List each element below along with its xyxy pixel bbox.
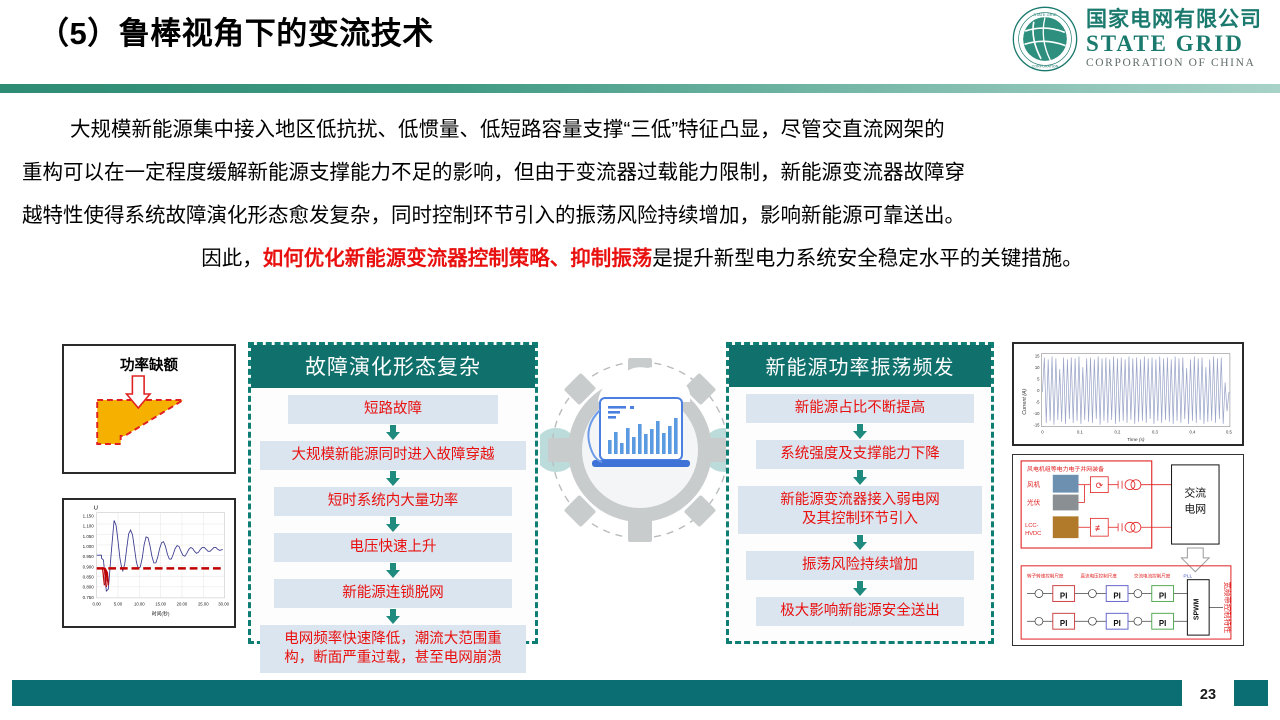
svg-text:0: 0: [1041, 429, 1044, 434]
svg-text:0.00: 0.00: [93, 602, 102, 607]
down-arrow-icon: [384, 471, 402, 486]
page-number: 23: [1192, 687, 1224, 703]
conclusion-highlight: 如何优化新能源变流器控制策略、抑制振荡: [263, 247, 653, 270]
svg-text:10.00: 10.00: [134, 602, 145, 607]
down-arrow-icon: [851, 424, 869, 439]
svg-text:0.5: 0.5: [1226, 429, 1233, 434]
flow-step: 新能源变流器接入弱电网 及其控制环节引入: [738, 486, 982, 534]
state-grid-logo: STATE GRID CORPORATION 国家电网有限公司 STATE GR…: [1012, 6, 1262, 72]
header-divider: [0, 84, 1280, 93]
body-line-1-text: 大规模新能源集中接入地区低抗扰、低惯量、低短路容量支撑“三低”特征凸显，尽管交直…: [70, 118, 945, 141]
gear-cloud-laptop-icon: [540, 350, 740, 550]
flow-step: 短路故障: [288, 395, 498, 424]
conclusion-prefix: 因此，: [201, 247, 263, 270]
svg-text:STATE GRID: STATE GRID: [1033, 12, 1056, 17]
svg-text:-5: -5: [1036, 400, 1040, 405]
fault-evolution-flow: 短路故障 大规模新能源同时进入故障穿越 短时系统内大量功率 电压快速上升 新能源…: [251, 388, 535, 677]
power-deficit-title: 功率缺额: [64, 354, 234, 375]
side-label: 宽频带控制特性: [1223, 581, 1233, 633]
svg-text:PI: PI: [1060, 619, 1067, 628]
svg-text:0.3: 0.3: [1152, 429, 1159, 434]
flow-step: 新能源连锁脱网: [274, 579, 512, 608]
svg-text:≢: ≢: [1095, 523, 1104, 533]
down-arrow-icon: [851, 470, 869, 485]
content-area: 功率缺额 U 1.1501.100 1.0501.000 0.9500.900 …: [0, 330, 1280, 660]
logo-cn-name: 国家电网有限公司: [1086, 9, 1262, 30]
group-title: 风电机组等电力电子并网装备: [1027, 465, 1104, 473]
current-waveform-chart: Current (A) 15105 0-5-10 -15 00.10.2 0.3…: [1014, 344, 1242, 444]
svg-text:PI: PI: [1113, 619, 1120, 628]
svg-text:1.100: 1.100: [83, 524, 95, 529]
logo-en-name: STATE GRID: [1086, 32, 1262, 55]
logo-en-subtitle: CORPORATION OF CHINA: [1086, 58, 1262, 70]
svg-text:⟳: ⟳: [1096, 481, 1104, 491]
source-label: LCC-: [1025, 523, 1038, 529]
current-waveform-card: Current (A) 15105 0-5-10 -15 00.10.2 0.3…: [1012, 342, 1244, 446]
svg-text:0.2: 0.2: [1114, 429, 1121, 434]
voltage-oscillation-card: U 1.1501.100 1.0501.000 0.9500.900 0.850…: [62, 498, 236, 628]
flow-step: 电压快速上升: [274, 533, 512, 562]
svg-text:CORPORATION: CORPORATION: [1032, 64, 1059, 68]
down-arrow-icon: [384, 609, 402, 624]
down-arrow-icon: [384, 425, 402, 440]
svg-text:PI: PI: [1159, 591, 1166, 600]
svg-text:5.00: 5.00: [114, 602, 123, 607]
svg-text:5: 5: [1037, 377, 1040, 382]
voltage-oscillation-chart: U 1.1501.100 1.0501.000 0.9500.900 0.850…: [64, 500, 234, 626]
converter-block-diagram: 风电机组等电力电子并网装备 风机 光伏 LCC- HVDC ⟳≢: [1013, 455, 1243, 645]
down-arrow-icon: [851, 535, 869, 550]
flow-step: 系统强度及支撑能力下降: [756, 440, 964, 469]
body-line-2: 重构可以在一定程度缓解新能源支撑能力不足的影响，但由于变流器过载能力限制，新能源…: [22, 151, 1262, 194]
flow-step: 振荡风险持续增加: [746, 551, 974, 580]
converter-block-diagram-card: 风电机组等电力电子并网装备 风机 光伏 LCC- HVDC ⟳≢: [1012, 454, 1244, 646]
fault-evolution-title: 故障演化形态复杂: [251, 345, 535, 388]
svg-text:PI: PI: [1159, 619, 1166, 628]
svg-text:10: 10: [1035, 365, 1040, 370]
power-deficit-card: 功率缺额: [62, 344, 236, 474]
down-arrow-icon: [384, 517, 402, 532]
fault-evolution-panel: 故障演化形态复杂 短路故障 大规模新能源同时进入故障穿越 短时系统内大量功率 电…: [248, 342, 538, 644]
pi-block-label: PIPI PIPI PIPI: [1060, 591, 1166, 628]
flow-step: 大规模新能源同时进入故障穿越: [260, 441, 526, 470]
svg-text:25.00: 25.00: [198, 602, 209, 607]
svg-text:0.1: 0.1: [1077, 429, 1084, 434]
flow-step: 电网频率快速降低，潮流大范围重 构，断面严重过载，甚至电网崩溃: [260, 625, 526, 673]
svg-text:30.00: 30.00: [218, 602, 229, 607]
svg-text:0.4: 0.4: [1189, 429, 1196, 434]
control-scale-label: 直流电压控制尺度: [1081, 573, 1118, 580]
page-title: （5）鲁棒视角下的变流技术: [38, 8, 434, 53]
body-line-3: 越特性使得系统故障演化形态愈发复杂，同时控制环节引入的振荡风险持续增加，影响新能…: [22, 194, 1262, 237]
current-xlabel: Time (s): [1127, 437, 1145, 443]
svg-text:PI: PI: [1060, 591, 1067, 600]
svg-text:-10: -10: [1033, 411, 1040, 416]
control-scale-label: 转子转速控制尺度: [1027, 573, 1064, 580]
svg-text:电网: 电网: [1184, 502, 1206, 515]
down-arrow-icon: [384, 563, 402, 578]
wave-xlabel: 时间(秒): [152, 610, 170, 617]
svg-text:15: 15: [1035, 353, 1040, 358]
conclusion-suffix: 是提升新型电力系统安全稳定水平的关键措施。: [652, 247, 1083, 270]
pll-label: PLL: [1183, 574, 1192, 580]
svg-text:HVDC: HVDC: [1025, 531, 1041, 537]
oscillation-flow: 新能源占比不断提高 系统强度及支撑能力下降 新能源变流器接入弱电网 及其控制环节…: [729, 387, 991, 630]
wave-ylabel: U: [94, 506, 98, 512]
svg-text:1.000: 1.000: [83, 544, 95, 549]
footer-bar: [12, 680, 1268, 706]
down-arrow-icon: [851, 581, 869, 596]
oscillation-title: 新能源功率振荡频发: [729, 345, 991, 387]
grid-label: 交流: [1184, 486, 1206, 500]
svg-text:0.950: 0.950: [83, 554, 95, 559]
source-label: 风机: [1027, 480, 1041, 489]
control-scale-label: 交流电流控制尺度: [1134, 573, 1171, 580]
flow-step: 短时系统内大量功率: [274, 487, 512, 516]
svg-text:1.050: 1.050: [83, 534, 95, 539]
svg-text:20.00: 20.00: [177, 602, 188, 607]
svg-text:0: 0: [1037, 388, 1040, 393]
svg-text:15.00: 15.00: [155, 602, 166, 607]
down-arrow-icon: [1181, 548, 1209, 572]
flow-step: 极大影响新能源安全送出: [756, 597, 964, 626]
svg-text:0.850: 0.850: [83, 575, 95, 580]
source-label: 光伏: [1027, 497, 1041, 506]
state-grid-globe-icon: STATE GRID CORPORATION: [1012, 6, 1078, 72]
body-line-4: 因此，如何优化新能源变流器控制策略、抑制振荡是提升新型电力系统安全稳定水平的关键…: [22, 237, 1262, 280]
svg-text:-15: -15: [1033, 423, 1040, 428]
body-paragraph: 大规模新能源集中接入地区低抗扰、低惯量、低短路容量支撑“三低”特征凸显，尽管交直…: [22, 108, 1262, 280]
svg-text:0.800: 0.800: [83, 585, 95, 590]
svg-text:0.900: 0.900: [83, 564, 95, 569]
svg-text:PI: PI: [1113, 591, 1120, 600]
svg-text:1.150: 1.150: [83, 513, 95, 518]
current-ylabel: Current (A): [1022, 388, 1028, 414]
oscillation-panel: 新能源功率振荡频发 新能源占比不断提高 系统强度及支撑能力下降 新能源变流器接入…: [726, 342, 994, 644]
body-line-1: 大规模新能源集中接入地区低抗扰、低惯量、低短路容量支撑“三低”特征凸显，尽管交直…: [22, 108, 1262, 151]
flow-step: 新能源占比不断提高: [746, 394, 974, 423]
svg-text:0.750: 0.750: [83, 595, 95, 600]
power-deficit-diagram: [64, 374, 234, 474]
spwm-label: SPWM: [1193, 598, 1200, 620]
